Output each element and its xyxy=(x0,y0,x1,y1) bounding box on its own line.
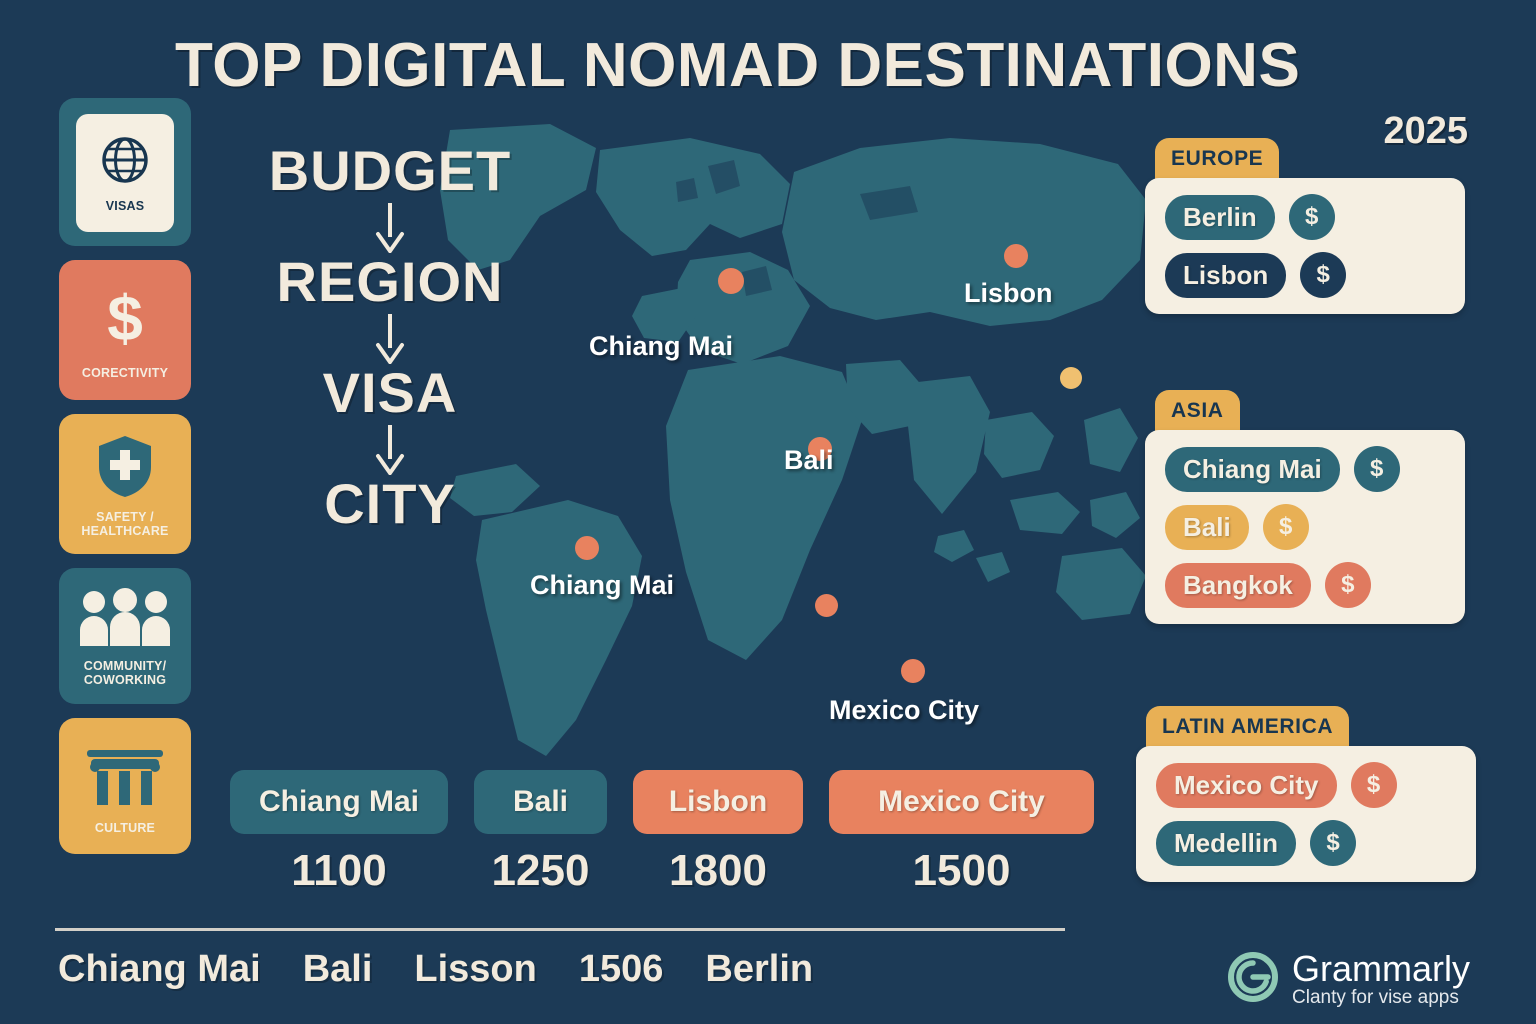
grammarly-g-icon xyxy=(1228,952,1278,1007)
funnel-step-visa: VISA xyxy=(240,364,540,421)
dollar-icon: $ xyxy=(95,283,155,360)
cost-badge-bali: $ xyxy=(1263,504,1309,550)
arrow-down-icon xyxy=(370,423,410,475)
visas-inner-card: VISAS xyxy=(76,114,174,232)
map-label-mexico-city: Mexico City xyxy=(829,695,979,726)
region-body-latin-america: Mexico City $ Medellin $ xyxy=(1136,746,1476,882)
map-label-chiang-mai-asia: Chiang Mai xyxy=(589,331,733,362)
arrow-down-icon xyxy=(370,201,410,253)
selection-funnel: BUDGET REGION VISA CITY xyxy=(240,142,540,532)
brand-name: Grammarly xyxy=(1292,950,1470,988)
city-chip-bangkok[interactable]: Bangkok xyxy=(1165,563,1311,608)
bar-chiang-mai[interactable]: Chiang Mai xyxy=(230,770,448,834)
brand-tagline: Clanty for vise apps xyxy=(1292,988,1470,1008)
bar-column-bali: Bali 1250 xyxy=(474,770,607,896)
list-item[interactable]: Mexico City $ xyxy=(1156,762,1460,808)
criteria-card-visas[interactable]: VISAS xyxy=(59,98,191,246)
arrow-down-icon xyxy=(370,312,410,364)
bar-mexico-city[interactable]: Mexico City xyxy=(829,770,1094,834)
year-label: 2025 xyxy=(1383,110,1468,153)
city-chip-bali[interactable]: Bali xyxy=(1165,505,1249,550)
cost-badge-chiang-mai: $ xyxy=(1354,446,1400,492)
criteria-card-culture[interactable]: CULTURE xyxy=(59,718,191,854)
city-chip-lisbon[interactable]: Lisbon xyxy=(1165,253,1286,298)
criteria-card-community-coworking[interactable]: COMMUNITY/ COWORKING xyxy=(59,568,191,704)
bar-column-chiang-mai: Chiang Mai 1100 xyxy=(230,770,448,896)
funnel-step-region: REGION xyxy=(240,253,540,310)
map-label-lisbon: Lisbon xyxy=(964,278,1053,309)
criteria-label-community: COMMUNITY/ COWORKING xyxy=(84,659,167,687)
region-panel-asia: ASIA Chiang Mai $ Bali $ Bangkok $ xyxy=(1145,390,1465,624)
city-chip-mexico-city[interactable]: Mexico City xyxy=(1156,763,1337,808)
funnel-step-budget: BUDGET xyxy=(240,142,540,199)
city-chip-medellin[interactable]: Medellin xyxy=(1156,821,1296,866)
map-marker-chiang-mai-samerica[interactable] xyxy=(575,536,599,560)
page-title: TOP DIGITAL NOMAD DESTINATIONS xyxy=(175,30,1475,101)
map-marker-unlabeled-gold[interactable] xyxy=(1060,367,1082,389)
region-panel-latin-america: LATIN AMERICA Mexico City $ Medellin $ xyxy=(1136,706,1476,882)
map-label-bali: Bali xyxy=(784,445,834,476)
region-body-asia: Chiang Mai $ Bali $ Bangkok $ xyxy=(1145,430,1465,624)
infographic-canvas: TOP DIGITAL NOMAD DESTINATIONS 2025 VISA… xyxy=(0,0,1536,1024)
criteria-card-corectivity[interactable]: $ CORECTIVITY xyxy=(59,260,191,400)
list-item[interactable]: Bangkok $ xyxy=(1165,562,1449,608)
temple-icon xyxy=(81,740,169,815)
grammarly-brand: Grammarly Clanty for vise apps xyxy=(1228,950,1470,1008)
globe-icon xyxy=(99,134,151,191)
cost-bar-chart: Chiang Mai 1100 Bali 1250 Lisbon 1800 Me… xyxy=(230,770,1094,896)
footer-legend: Chiang Mai Bali Lisson 1506 Berlin xyxy=(58,948,813,991)
list-item[interactable]: Bali $ xyxy=(1165,504,1449,550)
people-icon xyxy=(77,588,173,653)
bar-value-bali: 1250 xyxy=(492,846,590,896)
criteria-label-culture: CULTURE xyxy=(95,821,155,835)
region-panel-europe: EUROPE Berlin $ Lisbon $ xyxy=(1145,138,1465,314)
legend-item-bali: Bali xyxy=(303,948,373,991)
legend-item-chiang-mai: Chiang Mai xyxy=(58,948,261,991)
bar-column-lisbon: Lisbon 1800 xyxy=(633,770,803,896)
bar-value-lisbon: 1800 xyxy=(669,846,767,896)
cost-badge-berlin: $ xyxy=(1289,194,1335,240)
brand-text-block: Grammarly Clanty for vise apps xyxy=(1292,950,1470,1008)
bar-lisbon[interactable]: Lisbon xyxy=(633,770,803,834)
svg-text:$: $ xyxy=(107,283,143,354)
criteria-label-corectivity: CORECTIVITY xyxy=(82,366,168,380)
cost-badge-bangkok: $ xyxy=(1325,562,1371,608)
legend-item-1506: 1506 xyxy=(579,948,664,991)
criteria-label-visas: VISAS xyxy=(106,199,145,213)
criteria-label-safety: SAFETY / HEALTHCARE xyxy=(81,510,168,538)
shield-plus-icon xyxy=(94,433,156,504)
criteria-sidebar: VISAS $ CORECTIVITY SAFETY / HEALTHCARE xyxy=(59,98,191,868)
map-marker-unlabeled-orange[interactable] xyxy=(815,594,838,617)
city-chip-chiang-mai[interactable]: Chiang Mai xyxy=(1165,447,1340,492)
cost-badge-mexico-city: $ xyxy=(1351,762,1397,808)
funnel-step-city: CITY xyxy=(240,475,540,532)
legend-item-lisson: Lisson xyxy=(414,948,536,991)
map-marker-chiang-mai-asia[interactable] xyxy=(718,268,744,294)
bar-value-chiang-mai: 1100 xyxy=(291,846,386,896)
bar-value-mexico-city: 1500 xyxy=(913,846,1011,896)
criteria-card-safety-healthcare[interactable]: SAFETY / HEALTHCARE xyxy=(59,414,191,554)
cost-badge-lisbon: $ xyxy=(1300,252,1346,298)
list-item[interactable]: Berlin $ xyxy=(1165,194,1449,240)
map-marker-mexico-city[interactable] xyxy=(901,659,925,683)
list-item[interactable]: Lisbon $ xyxy=(1165,252,1449,298)
footer-divider xyxy=(55,928,1065,931)
legend-item-berlin: Berlin xyxy=(705,948,813,991)
bar-column-mexico-city: Mexico City 1500 xyxy=(829,770,1094,896)
cost-badge-medellin: $ xyxy=(1310,820,1356,866)
list-item[interactable]: Medellin $ xyxy=(1156,820,1460,866)
map-marker-lisbon[interactable] xyxy=(1004,244,1028,268)
bar-bali[interactable]: Bali xyxy=(474,770,607,834)
map-label-chiang-mai-samerica: Chiang Mai xyxy=(530,570,674,601)
city-chip-berlin[interactable]: Berlin xyxy=(1165,195,1275,240)
region-body-europe: Berlin $ Lisbon $ xyxy=(1145,178,1465,314)
list-item[interactable]: Chiang Mai $ xyxy=(1165,446,1449,492)
